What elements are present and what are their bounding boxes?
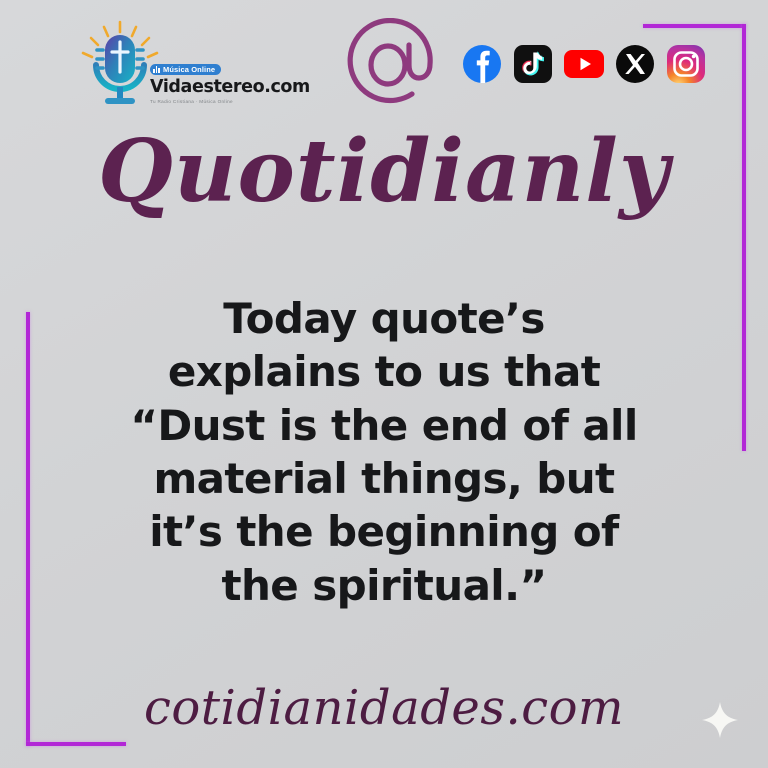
quote-poster: Música Online Vidaestereo.com Tu Radio C… xyxy=(0,0,768,768)
facebook-icon[interactable] xyxy=(462,44,502,84)
musica-online-badge: Música Online xyxy=(150,64,221,75)
social-icons-row xyxy=(462,44,706,84)
corner-bracket-bottom-left-horizontal xyxy=(26,742,126,746)
page-title: Quotidianly xyxy=(0,129,768,215)
at-symbol-icon xyxy=(342,18,438,114)
vidaestereo-logo[interactable]: Música Online Vidaestereo.com Tu Radio C… xyxy=(72,18,272,118)
logo-text-block: Música Online Vidaestereo.com Tu Radio C… xyxy=(150,60,280,104)
youtube-icon[interactable] xyxy=(564,44,604,84)
sparkle-star-icon xyxy=(700,700,740,740)
brand-name: Vidaestereo.com xyxy=(150,79,280,97)
footer-website-url[interactable]: cotidianidades.com xyxy=(0,684,768,732)
equalizer-bars-icon xyxy=(153,66,161,73)
tiktok-icon[interactable] xyxy=(513,44,553,84)
musica-online-badge-label: Música Online xyxy=(163,66,215,74)
instagram-icon[interactable] xyxy=(666,44,706,84)
poster-header: Música Online Vidaestereo.com Tu Radio C… xyxy=(0,0,768,128)
x-twitter-icon[interactable] xyxy=(615,44,655,84)
corner-bracket-bottom-left-vertical xyxy=(26,312,30,746)
brand-tagline: Tu Radio Cristiana · Música Online xyxy=(150,99,280,104)
quote-text: Today quote’s explains to us that “Dust … xyxy=(124,292,644,612)
